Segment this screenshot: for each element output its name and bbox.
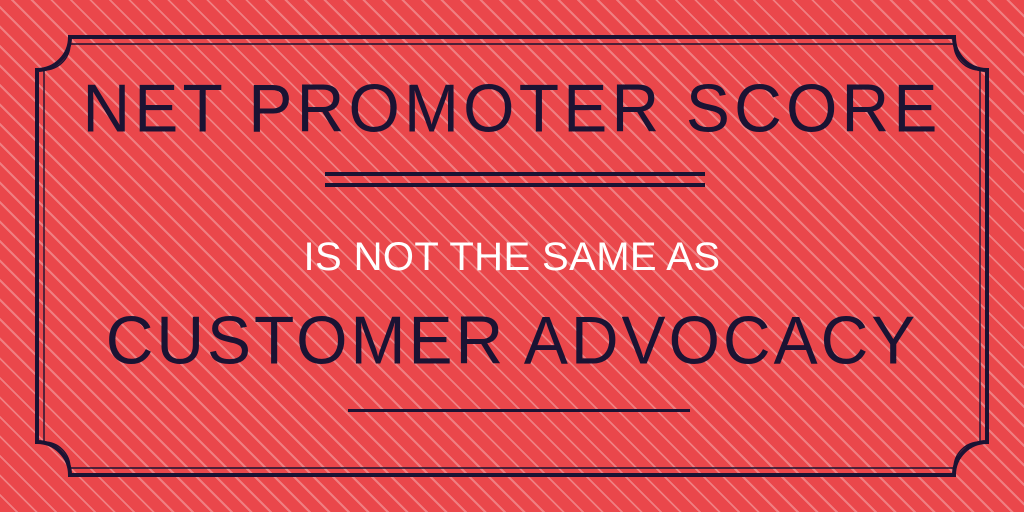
headline-connector: IS NOT THE SAME AS [0,234,1024,280]
divider-rule-bottom [348,409,690,412]
banner-content: NET PROMOTER SCORE IS NOT THE SAME AS CU… [0,0,1024,512]
net-promoter-score-banner: NET PROMOTER SCORE IS NOT THE SAME AS CU… [0,0,1024,512]
headline-secondary: CUSTOMER ADVOCACY [0,303,1024,376]
headline-primary: NET PROMOTER SCORE [0,71,1024,144]
divider-rule-upper [325,172,705,176]
divider-rule-lower [325,183,705,187]
